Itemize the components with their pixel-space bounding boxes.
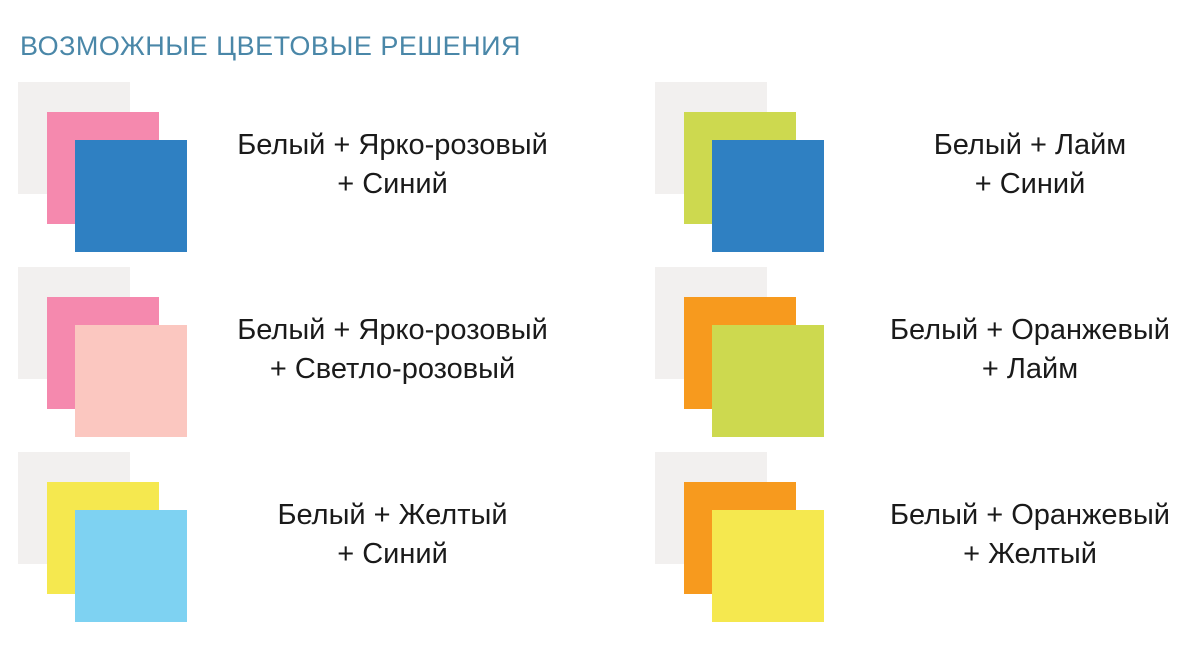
- color-schemes-page: ВОЗМОЖНЫЕ ЦВЕТОВЫЕ РЕШЕНИЯ Белый + Ярко-…: [0, 0, 1200, 650]
- combination-caption: Белый + Лайм+ Синий: [830, 126, 1200, 204]
- caption-line-2: + Лайм: [830, 350, 1200, 389]
- swatch-stack: [655, 82, 840, 250]
- page-title: ВОЗМОЖНЫЕ ЦВЕТОВЫЕ РЕШЕНИЯ: [20, 32, 521, 62]
- combination-caption: Белый + Ярко-розовый+ Синий: [190, 126, 595, 204]
- caption-line-1: Белый + Ярко-розовый: [190, 311, 595, 350]
- color-combination-white-bright-pink-blue: Белый + Ярко-розовый+ Синий: [0, 70, 600, 255]
- caption-line-1: Белый + Лайм: [830, 126, 1200, 165]
- swatch-stack: [655, 267, 840, 435]
- color-combination-grid: Белый + Ярко-розовый+ СинийБелый + Ярко-…: [0, 70, 1200, 650]
- combination-caption: Белый + Оранжевый+ Желтый: [830, 496, 1200, 574]
- swatch-stack: [655, 452, 840, 620]
- combination-caption: Белый + Ярко-розовый+ Светло-розовый: [190, 311, 595, 389]
- caption-line-2: + Синий: [190, 165, 595, 204]
- swatch-stack: [18, 267, 203, 435]
- caption-line-1: Белый + Желтый: [190, 496, 595, 535]
- swatch-stack: [18, 452, 203, 620]
- caption-line-2: + Светло-розовый: [190, 350, 595, 389]
- caption-line-2: + Желтый: [830, 535, 1200, 574]
- color-combination-white-orange-lime: Белый + Оранжевый+ Лайм: [637, 255, 1200, 440]
- color-swatch: [712, 140, 824, 252]
- caption-line-2: + Синий: [830, 165, 1200, 204]
- caption-line-1: Белый + Оранжевый: [830, 311, 1200, 350]
- color-swatch: [75, 325, 187, 437]
- color-swatch: [75, 510, 187, 622]
- color-combination-white-lime-blue: Белый + Лайм+ Синий: [637, 70, 1200, 255]
- caption-line-1: Белый + Ярко-розовый: [190, 126, 595, 165]
- caption-line-2: + Синий: [190, 535, 595, 574]
- color-combination-white-orange-yellow: Белый + Оранжевый+ Желтый: [637, 440, 1200, 625]
- combination-caption: Белый + Оранжевый+ Лайм: [830, 311, 1200, 389]
- caption-line-1: Белый + Оранжевый: [830, 496, 1200, 535]
- swatch-stack: [18, 82, 203, 250]
- color-combination-white-bright-pink-light-pink: Белый + Ярко-розовый+ Светло-розовый: [0, 255, 600, 440]
- combination-caption: Белый + Желтый+ Синий: [190, 496, 595, 574]
- color-swatch: [712, 325, 824, 437]
- color-combination-white-yellow-blue: Белый + Желтый+ Синий: [0, 440, 600, 625]
- color-swatch: [712, 510, 824, 622]
- color-swatch: [75, 140, 187, 252]
